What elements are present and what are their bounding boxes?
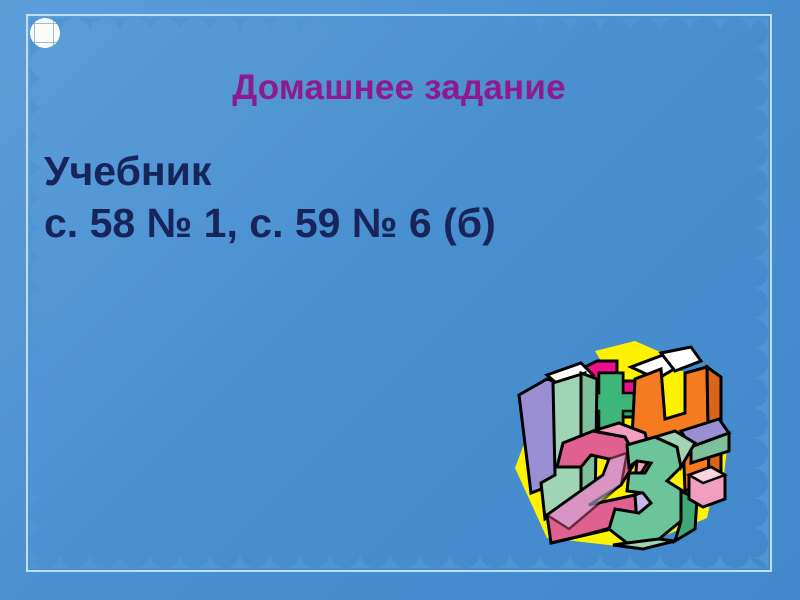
page-title: Домашнее задание <box>30 68 768 108</box>
assignment-text-block: Учебник с. 58 № 1, с. 59 № 6 (б) <box>44 146 744 249</box>
slide-canvas: Домашнее задание Учебник с. 58 № 1, с. 5… <box>0 0 800 600</box>
assignment-line-pages: с. 58 № 1, с. 59 № 6 (б) <box>44 198 744 250</box>
grid-paper-sheet: Домашнее задание Учебник с. 58 № 1, с. 5… <box>30 18 768 568</box>
clipart-dot <box>689 467 725 507</box>
math-numbers-clipart <box>485 333 735 563</box>
assignment-line-textbook: Учебник <box>44 146 744 198</box>
